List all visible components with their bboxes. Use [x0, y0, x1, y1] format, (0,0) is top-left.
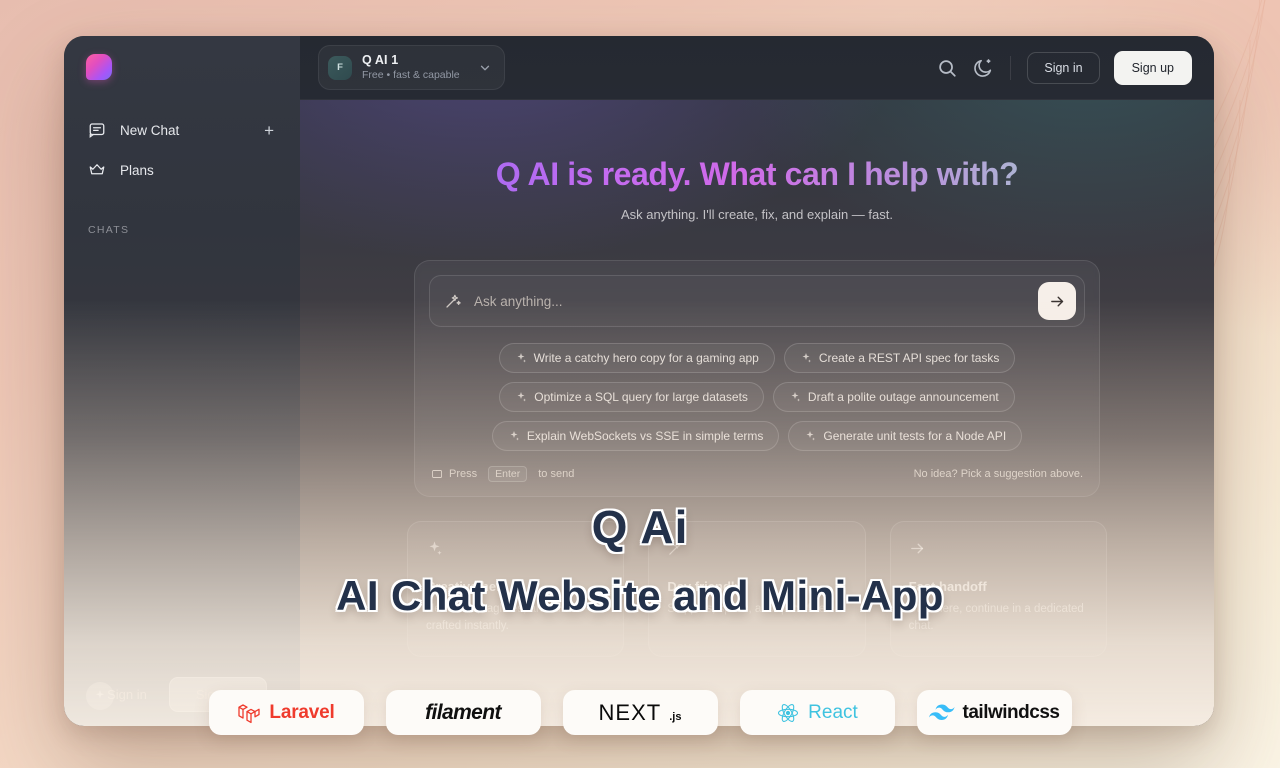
- sidebar-item-label: New Chat: [120, 123, 250, 138]
- plus-icon[interactable]: +: [264, 122, 276, 139]
- sidebar-section-chats: CHATS: [88, 224, 300, 236]
- react-icon: [776, 701, 800, 725]
- composer-input-row: [429, 275, 1085, 327]
- sparkle-icon: [515, 391, 527, 403]
- search-icon[interactable]: [936, 57, 958, 79]
- feature-card-title: Fast handoff: [909, 579, 1088, 594]
- suggestion-chip[interactable]: Optimize a SQL query for large datasets: [499, 382, 764, 412]
- sparkle-icon: [804, 430, 816, 442]
- composer-footer: Press Enter to send No idea? Pick a sugg…: [429, 466, 1085, 488]
- logo-label-laravel: Laravel: [269, 702, 334, 724]
- sidebar-item-new-chat[interactable]: New Chat +: [78, 110, 286, 150]
- suggestion-chip[interactable]: Draft a polite outage announcement: [773, 382, 1015, 412]
- main-area: F Q AI 1 Free • fast & capable: [300, 36, 1214, 726]
- suggestion-chips: Write a catchy hero copy for a gaming ap…: [429, 343, 1085, 451]
- model-name: Q AI 1: [362, 53, 460, 69]
- composer-panel: Write a catchy hero copy for a gaming ap…: [414, 260, 1100, 497]
- sign-up-button[interactable]: Sign up: [1114, 51, 1192, 85]
- suggestion-chip-label: Explain WebSockets vs SSE in simple term…: [527, 429, 764, 443]
- suggestion-chip[interactable]: Create a REST API spec for tasks: [784, 343, 1016, 373]
- model-subtitle: Free • fast & capable: [362, 69, 460, 82]
- sparkle-icon: [789, 391, 801, 403]
- sparkle-icon: [426, 540, 443, 557]
- suggestion-chip[interactable]: Explain WebSockets vs SSE in simple term…: [492, 421, 780, 451]
- suggestion-chip-label: Create a REST API spec for tasks: [819, 351, 1000, 365]
- suggestion-chip-label: Optimize a SQL query for large datasets: [534, 390, 748, 404]
- keyboard-icon: [431, 468, 443, 480]
- next-suffix-text: .js: [669, 711, 681, 723]
- magic-wand-icon: [444, 292, 462, 310]
- sidebar: New Chat + Plans CHATS Sign in Sign up: [64, 36, 300, 726]
- suggestion-chip-label: Draft a polite outage announcement: [808, 390, 999, 404]
- tech-logo-strip: Laravel filament NEXT.js React tailwindc…: [0, 690, 1280, 735]
- feature-card-title: Dev friendly: [667, 579, 846, 594]
- feature-card[interactable]: Creative help Headlines, taglines, and i…: [407, 521, 624, 657]
- feature-cards: Creative help Headlines, taglines, and i…: [407, 521, 1107, 657]
- arrow-right-icon: [1049, 293, 1066, 310]
- logo-label-tailwind: tailwindcss: [963, 702, 1060, 724]
- model-avatar: F: [328, 56, 352, 80]
- hint-send-label: to send: [538, 468, 574, 480]
- logo-label-next-suffix: .js: [669, 700, 681, 726]
- crown-icon: [88, 161, 106, 179]
- feature-card[interactable]: Fast handoff Start here, continue in a d…: [890, 521, 1107, 657]
- sparkle-icon: [800, 352, 812, 364]
- logo-card-react: React: [740, 690, 895, 735]
- logo-card-nextjs: NEXT.js: [563, 690, 718, 735]
- chevron-down-icon: [478, 61, 492, 75]
- tailwind-icon: [929, 704, 955, 721]
- sidebar-item-label: Plans: [120, 163, 276, 178]
- model-selector[interactable]: F Q AI 1 Free • fast & capable: [318, 45, 505, 91]
- chat-bubble-logo-icon: [86, 54, 112, 80]
- logo-label-next: NEXT: [599, 700, 662, 726]
- composer-hint-right: No idea? Pick a suggestion above.: [914, 468, 1083, 480]
- sidebar-nav: New Chat + Plans: [64, 110, 300, 190]
- logo-card-filament: filament: [386, 690, 541, 735]
- moon-icon[interactable]: [972, 57, 994, 79]
- suggestion-chip[interactable]: Write a catchy hero copy for a gaming ap…: [499, 343, 775, 373]
- hero-content: Q AI is ready. What can I help with? Ask…: [300, 100, 1214, 726]
- magic-wand-icon: [667, 540, 684, 557]
- laravel-icon: [237, 701, 261, 725]
- page-title: Q AI is ready. What can I help with?: [300, 156, 1214, 193]
- message-lines-icon: [88, 121, 106, 139]
- feature-card[interactable]: Dev friendly Snippets, specs, and quick …: [648, 521, 865, 657]
- page-subtitle: Ask anything. I'll create, fix, and expl…: [300, 207, 1214, 222]
- logo-card-tailwind: tailwindcss: [917, 690, 1072, 735]
- hint-press-label: Press: [449, 468, 477, 480]
- app-window: New Chat + Plans CHATS Sign in Sign up: [64, 36, 1214, 726]
- feature-card-title: Creative help: [426, 579, 605, 594]
- sidebar-item-plans[interactable]: Plans: [78, 150, 286, 190]
- logo-label-react: React: [808, 702, 858, 724]
- topbar: F Q AI 1 Free • fast & capable: [300, 36, 1214, 100]
- feature-card-desc: Snippets, specs, and quick fixes.: [667, 601, 846, 618]
- arrow-right-icon: [909, 540, 926, 557]
- sign-in-button[interactable]: Sign in: [1027, 52, 1099, 84]
- enter-key-badge: Enter: [488, 466, 527, 482]
- logo-label-filament: filament: [425, 701, 501, 725]
- feature-card-desc: Start here, continue in a dedicated chat…: [909, 601, 1088, 636]
- topbar-divider: [1010, 56, 1011, 80]
- sparkle-icon: [508, 430, 520, 442]
- sparkle-icon: [515, 352, 527, 364]
- search-input[interactable]: [474, 294, 1026, 309]
- logo-card-laravel: Laravel: [209, 690, 364, 735]
- feature-card-desc: Headlines, taglines, and ideas — crafted…: [426, 601, 605, 636]
- send-button[interactable]: [1038, 282, 1076, 320]
- suggestion-chip-label: Generate unit tests for a Node API: [823, 429, 1006, 443]
- suggestion-chip-label: Write a catchy hero copy for a gaming ap…: [534, 351, 759, 365]
- suggestion-chip[interactable]: Generate unit tests for a Node API: [788, 421, 1022, 451]
- app-logo[interactable]: [86, 54, 112, 80]
